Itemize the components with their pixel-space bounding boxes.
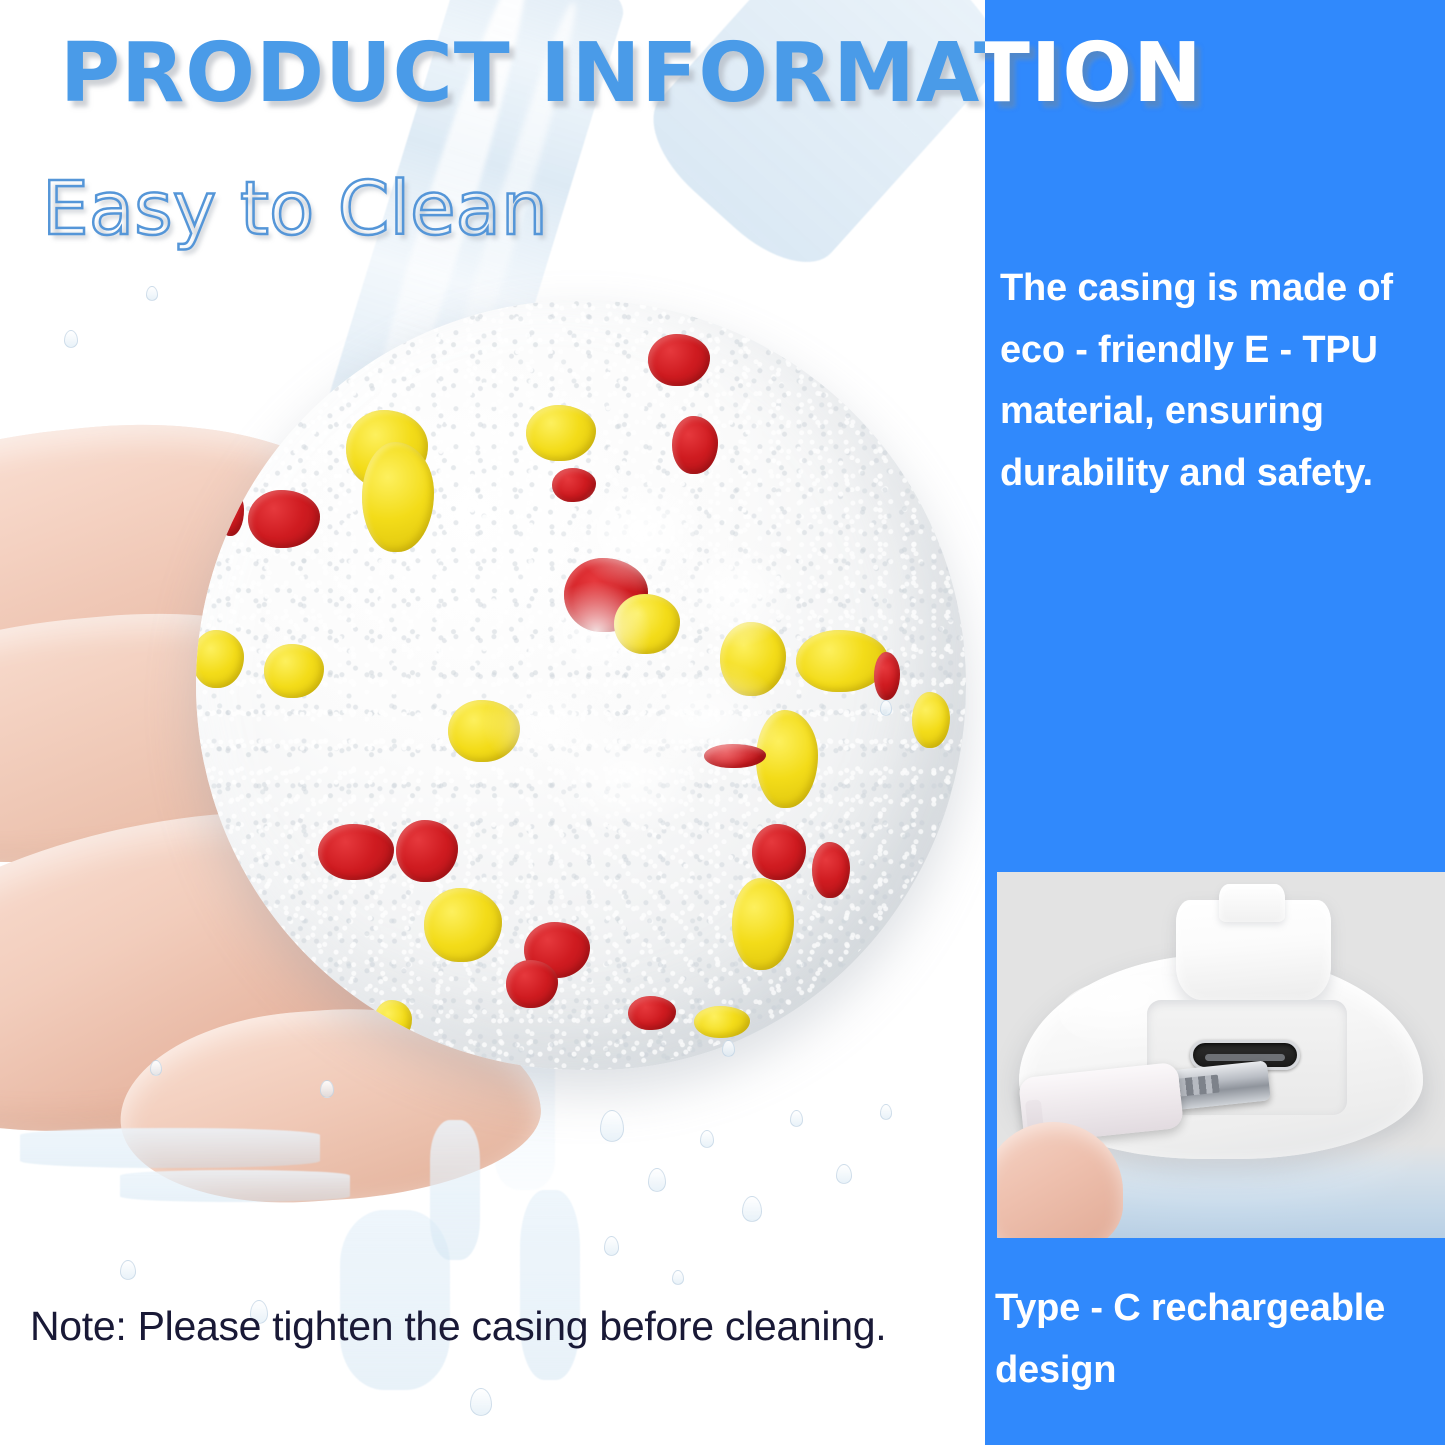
water-droplet [880, 700, 892, 716]
water-droplet [146, 286, 158, 301]
page-title-overlay-clip: PRODUCT INFORMATION [985, 26, 1445, 126]
water-droplet [120, 1260, 136, 1280]
product-information-page: Note: Please tighten the casing before c… [0, 0, 1445, 1445]
water-splash [430, 1120, 480, 1260]
page-title-overlay: PRODUCT INFORMATION [985, 26, 1203, 121]
water-droplet [790, 1110, 803, 1127]
water-droplet [672, 1270, 684, 1285]
water-droplet [600, 1110, 624, 1142]
water-droplet [836, 1164, 852, 1184]
device-nub [1219, 884, 1285, 922]
water-droplet [722, 1040, 735, 1057]
page-title-block: PRODUCT INFORMATION PRODUCT INFORMATION [0, 26, 1445, 126]
water-droplet [648, 1168, 666, 1192]
water-droplet [742, 1196, 762, 1222]
usb-c-port-photo [997, 872, 1445, 1238]
water-splash [20, 1128, 320, 1168]
cleaning-note: Note: Please tighten the casing before c… [30, 1303, 886, 1350]
water-droplet [604, 1236, 619, 1256]
foam-stress-ball [196, 300, 966, 1070]
water-droplet [150, 1060, 162, 1076]
water-droplet [470, 1388, 492, 1416]
page-subtitle: Easy to Clean [42, 166, 548, 252]
water-droplet [320, 1080, 334, 1098]
water-droplet [880, 1104, 892, 1120]
water-droplet [700, 1130, 714, 1148]
rechargeable-caption: Type - C rechargeable design [995, 1278, 1445, 1401]
material-description: The casing is made of eco - friendly E -… [1000, 258, 1440, 504]
water-splash [120, 1170, 350, 1202]
caption-line-2: design [995, 1340, 1445, 1402]
water-splash [520, 1190, 580, 1380]
caption-line-1: Type - C rechargeable [995, 1278, 1445, 1340]
water-droplet [64, 330, 78, 348]
